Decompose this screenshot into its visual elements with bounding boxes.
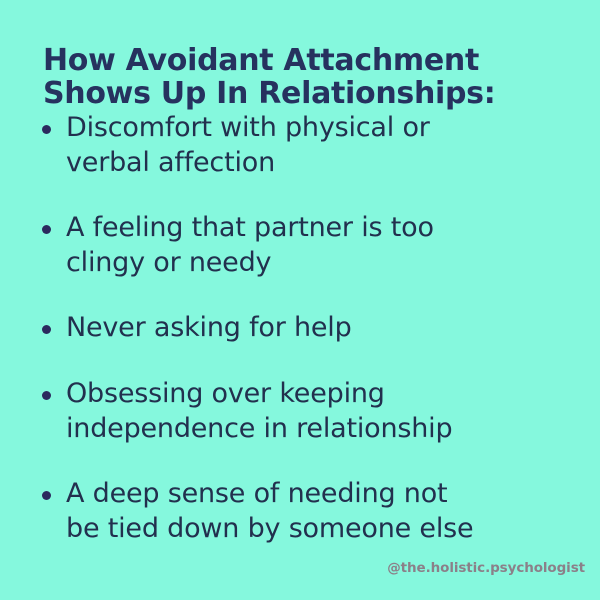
list-item: A feeling that partner is too clingy or … xyxy=(0,210,600,280)
list-item-label: A deep sense of needing not be tied down… xyxy=(66,476,580,546)
list-item-label: Obsessing over keeping independence in r… xyxy=(66,376,580,446)
bullet-dot-icon xyxy=(42,225,51,234)
list-item: Obsessing over keeping independence in r… xyxy=(0,376,600,446)
symptom-list: Discomfort with physical or verbal affec… xyxy=(0,110,600,546)
infographic-card: How Avoidant Attachment Shows Up In Rela… xyxy=(0,0,600,600)
list-item-label: Never asking for help xyxy=(66,310,580,345)
list-item-label: Discomfort with physical or verbal affec… xyxy=(66,110,580,180)
list-item: Never asking for help xyxy=(0,310,600,346)
bullet-dot-icon xyxy=(42,325,51,334)
list-item: A deep sense of needing not be tied down… xyxy=(0,476,600,546)
bullet-dot-icon xyxy=(42,125,51,134)
list-item: Discomfort with physical or verbal affec… xyxy=(0,110,600,180)
account-handle: @the.holistic.psychologist xyxy=(387,560,585,576)
page-title: How Avoidant Attachment Shows Up In Rela… xyxy=(43,44,563,110)
bullet-dot-icon xyxy=(42,491,51,500)
list-item-label: A feeling that partner is too clingy or … xyxy=(66,210,580,280)
bullet-dot-icon xyxy=(42,391,51,400)
